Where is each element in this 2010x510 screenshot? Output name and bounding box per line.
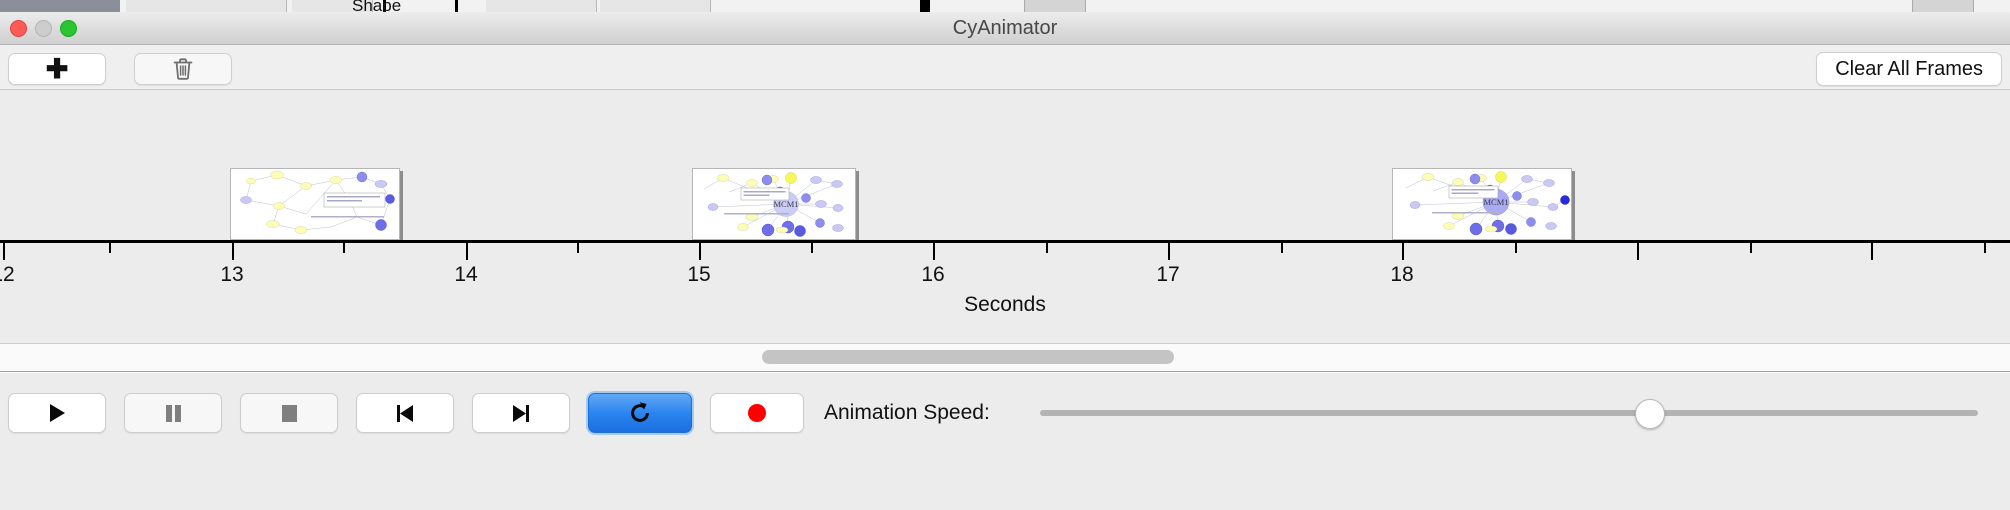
- background-window-grip-2: [1912, 0, 1974, 12]
- skip-start-button[interactable]: [356, 393, 454, 433]
- clear-all-frames-label: Clear All Frames: [1835, 58, 1983, 81]
- pause-icon: [163, 402, 183, 424]
- ruler-tick-label: 13: [220, 263, 243, 287]
- transport-bar: Animation Speed:: [0, 373, 2010, 510]
- background-window-titlebar-chip: [0, 0, 120, 12]
- ruler-tick-minor: [109, 243, 111, 253]
- delete-frame-button[interactable]: [134, 53, 232, 85]
- network-graph-thumbnail: MCM1: [693, 169, 855, 239]
- traffic-light-group: [10, 20, 77, 37]
- background-window-tick-2: [455, 0, 458, 12]
- timeline-ruler[interactable]: 12131415161718 Seconds: [0, 240, 2010, 344]
- cyanimator-window: Shape CyAnimator ✚ Clear All Frames: [0, 0, 2010, 510]
- slider-track[interactable]: [1040, 410, 1978, 416]
- ruler-tick-label: 14: [454, 263, 477, 287]
- ruler-tick-major: [466, 243, 468, 260]
- ruler-tick-major: [3, 243, 5, 260]
- animation-speed-label: Animation Speed:: [824, 393, 990, 433]
- timeline-horizontal-scrollbar[interactable]: [0, 344, 2010, 372]
- skip-start-icon: [394, 402, 416, 424]
- ruler-axis-title: Seconds: [0, 293, 2010, 317]
- stop-icon: [279, 402, 299, 424]
- ruler-tick-major: [232, 243, 234, 260]
- plus-icon: ✚: [46, 56, 69, 83]
- hub-node-label: MCM1: [1483, 197, 1508, 207]
- loop-button[interactable]: [588, 393, 692, 433]
- toolbar: ✚ Clear All Frames: [0, 45, 2010, 90]
- trash-icon: [172, 57, 194, 81]
- ruler-tick-label: 15: [687, 263, 710, 287]
- frame-thumbnail-2[interactable]: MCM1: [692, 168, 856, 240]
- record-icon: [746, 402, 768, 424]
- clear-all-frames-button[interactable]: Clear All Frames: [1816, 52, 2002, 86]
- loop-icon: [627, 400, 653, 426]
- ruler-tick-major: [1637, 243, 1639, 260]
- ruler-tick-major: [699, 243, 701, 260]
- ruler-tick-minor: [577, 243, 579, 253]
- ruler-tick-label: 16: [921, 263, 944, 287]
- ruler-tick-minor: [1750, 243, 1752, 253]
- pause-button[interactable]: [124, 393, 222, 433]
- background-window-chip-3: [486, 0, 597, 12]
- background-window-chip-1: [126, 0, 287, 12]
- ruler-tick-major: [1871, 243, 1873, 260]
- title-bar[interactable]: CyAnimator: [0, 12, 2010, 45]
- slider-thumb[interactable]: [1635, 399, 1665, 429]
- frame-thumbnail-1[interactable]: [230, 168, 400, 240]
- stop-button[interactable]: [240, 393, 338, 433]
- background-window-chip-4: [600, 0, 711, 12]
- play-button[interactable]: [8, 393, 106, 433]
- ruler-tick-minor: [1046, 243, 1048, 253]
- play-icon: [47, 402, 67, 424]
- background-window-marker: [920, 0, 930, 12]
- network-graph-thumbnail: MCM1: [1393, 169, 1571, 239]
- record-button[interactable]: [710, 393, 804, 433]
- window-title: CyAnimator: [0, 12, 2010, 45]
- ruler-tick-label: 18: [1390, 263, 1413, 287]
- ruler-tick-major: [1402, 243, 1404, 260]
- timeline-panel[interactable]: MCM1: [0, 90, 2010, 344]
- ruler-tick-minor: [343, 243, 345, 253]
- ruler-tick-minor: [811, 243, 813, 253]
- scrollbar-thumb[interactable]: [762, 350, 1174, 364]
- ruler-tick-minor: [1515, 243, 1517, 253]
- network-graph-thumbnail: [231, 169, 399, 239]
- ruler-tick-minor: [1984, 243, 1986, 253]
- ruler-tick-major: [1168, 243, 1170, 260]
- skip-end-button[interactable]: [472, 393, 570, 433]
- minimize-button[interactable]: [35, 20, 52, 37]
- animation-speed-slider[interactable]: [1040, 393, 1978, 433]
- zoom-button[interactable]: [60, 20, 77, 37]
- ruler-tick-label: 17: [1156, 263, 1179, 287]
- add-frame-button[interactable]: ✚: [8, 53, 106, 85]
- ruler-tick-major: [933, 243, 935, 260]
- ruler-baseline: [0, 240, 2010, 243]
- frame-thumbnail-3[interactable]: MCM1: [1392, 168, 1572, 240]
- skip-end-icon: [510, 402, 532, 424]
- background-window-grip-1: [1024, 0, 1086, 12]
- ruler-tick-label: 12: [0, 263, 15, 287]
- ruler-tick-minor: [1281, 243, 1283, 253]
- hub-node-label: MCM1: [773, 199, 798, 209]
- close-button[interactable]: [10, 20, 27, 37]
